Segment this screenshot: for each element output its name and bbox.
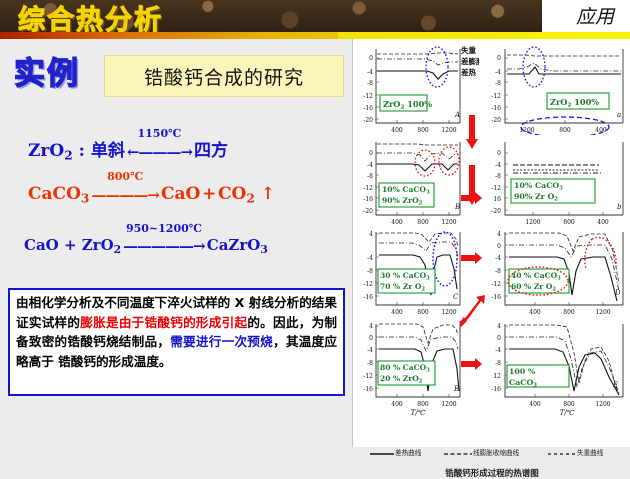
legend-swatch-dashed-long [443,450,473,457]
eq2-condition: 800℃ [107,170,143,183]
slide-root: 综合热分析 应用 实例 锆酸钙合成的研究 ZrO2 : 单斜1150℃←———→… [0,0,630,447]
legend-swatch-solid [369,450,395,457]
chart-panel-B: 0 -4 -8 -12 -16 -20 400 800 1200 [357,139,461,227]
panel-D-composition-2: 60 % Zr O2 [511,282,556,292]
chart-panel-F-svg: 4 0 -4 -8 12 -16 400 800 1200 [479,321,627,417]
ytick: 4 [497,323,501,330]
ytick: -4 [495,162,501,169]
equations-group: ZrO2 : 单斜1150℃←———→四方 CaCO3800℃————→CaO … [0,126,352,286]
legend-item-2: 失重曲线 [547,447,603,457]
chart-panel-b: 0 -4 -8 -12 16 -20 1200 800 400 [479,139,627,227]
ytick: -12 [491,281,501,288]
chart-panel-D: 4 0 -4 -8 -12 -16 400 800 1200 [479,229,627,319]
ytick: -4 [495,69,501,76]
panel-A-label: A [454,111,460,119]
ytick: -4 [495,255,501,262]
ytick: -8 [495,360,501,367]
xtick: 400 [391,127,403,134]
ytick: 12 [493,373,501,380]
ytick: -8 [495,173,501,180]
panel-b-label: b [617,203,622,211]
chart-panel-E: 4 0 -4 -8 -12 -16 400 800 1200 [357,321,461,417]
thermal-analysis-figure: 0 -4 -8 -12 -16 -20 400 800 1200 [352,39,630,447]
ytick: -4 [367,255,373,262]
xtick: 1200 [441,401,456,408]
panel-D-composition-1: 40 % CaCO3 [511,271,561,281]
chart-panel-b-svg: 0 -4 -8 -12 16 -20 1200 800 400 [479,139,627,227]
panel-E-composition-1: 80 % CaCO3 [380,363,430,373]
ytick: -12 [363,185,373,192]
equation-zro2: ZrO2 : 单斜1150℃←———→四方 [28,136,228,162]
red-arrow-diagonal-1 [459,295,487,329]
eq1-right: 四方 [194,141,228,161]
equation-caco3: CaCO3800℃————→CaO + CO2 ↑ [28,184,275,205]
eq1-left: ZrO2 : 单斜 [28,141,125,161]
panel-B-composition-1: 10% CaCO3 [382,185,430,195]
equation-cazro3: CaO + ZrO2950~1200℃—————→CaZrO3 [24,236,268,256]
legend-item-1: 线膨胀收缩曲线 [443,447,519,457]
panel-a-label: a [617,111,621,119]
ytick: -12 [363,281,373,288]
xtick: 1200 [525,219,540,226]
panel-E-xaxis-label: T/℃ [411,409,426,417]
eq3-left: CaO + ZrO2 [24,236,121,254]
ytick: -16 [363,294,373,301]
eq3-arrow: 950~1200℃—————→ [123,237,205,255]
ytick: 0 [497,243,501,250]
chart-panel-B-svg: 0 -4 -8 -12 -16 -20 400 800 1200 [357,139,461,227]
xtick: 800 [417,219,429,226]
panel-F-label: F [612,381,619,389]
ytick: -16 [491,294,501,301]
panel-F-composition-2: CaCO3 [509,378,537,388]
panel-b-composition-2: 90% Zr O2 [514,192,558,202]
xtick: 800 [417,127,429,134]
panel-B-label: B [454,203,460,211]
panel-E-composition-2: 20 % ZrO2 [380,374,423,384]
ytick: -4 [367,69,373,76]
ytick: -20 [363,208,373,215]
eq3-condition: 950~1200℃ [126,222,202,235]
ytick: -8 [495,80,501,87]
chart-panel-E-svg: 4 0 -4 -8 -12 -16 400 800 1200 [357,321,461,417]
eq1-condition: 1150℃ [137,127,181,140]
conclusion-textbox: 由相化学分析及不同温度下淬火试样的 X 射线分析的结果证实试样的膨胀是由于锆酸钙… [8,288,345,396]
ytick: 4 [369,231,373,238]
ytick: -12 [491,185,501,192]
panel-B-composition-2: 90% ZrO2 [382,196,423,206]
legend-label-0: 差热曲线 [395,449,421,457]
eq2-right: CaO + CO2 ↑ [161,184,275,204]
eq3-right: CaZrO3 [207,236,268,254]
xtick: 400 [529,401,541,408]
conclusion-paragraph: 由相化学分析及不同温度下淬火试样的 X 射线分析的结果证实试样的膨胀是由于锆酸钙… [16,293,337,371]
panel-b-composition-1: 10% CaCO3 [514,181,563,191]
panel-F-composition-1: 100 % [509,367,536,376]
xtick: 400 [391,309,403,316]
panel-C-composition-2: 70 % Zr O2 [380,282,425,292]
ytick: -12 [491,93,501,100]
xtick: 800 [563,309,575,316]
ytick: -16 [491,386,501,393]
panel-F-xaxis-label: T/℃ [560,409,575,417]
xtick: 400 [597,219,609,226]
eq1-arrow: 1150℃←———→ [127,142,192,162]
legend-swatch-dashed [547,450,577,457]
xtick: 800 [559,127,571,134]
panel-D-label: D [614,289,621,297]
example-badge: 实例 [14,48,80,93]
page-title: 综合热分析 [18,0,163,32]
ytick: -16 [363,196,373,203]
red-arrow-right-2 [461,191,483,205]
legend-label-1: 线膨胀收缩曲线 [473,449,519,457]
xtick: 400 [391,401,403,408]
xtick: 800 [417,401,429,408]
title-band: 综合热分析 应用 [0,0,630,32]
panel-A-composition: ZrO2 100% [383,99,432,111]
chart-panel-a: 0 -4 -8 -12 -16 -20 1200 800 400 [479,43,627,135]
ytick: -20 [363,117,373,124]
ytick: 4 [369,323,373,330]
ytick: -20 [491,117,501,124]
red-arrow-right-3 [461,357,483,371]
chart-panel-C-svg: 4 -4 -8 -12 -16 400 800 1200 [357,229,461,319]
ytick: -16 [491,105,501,112]
panel-a-composition: ZrO2 100% [550,97,599,109]
ytick: 0 [369,150,373,157]
chart-panel-a-svg: 0 -4 -8 -12 -16 -20 1200 800 400 [479,43,627,135]
figure-caption: 锆酸钙形成过程的热谱图 [353,467,630,479]
red-arrow-right-1 [461,251,483,265]
ytick: 0 [497,335,501,342]
legend-label-2: 失重曲线 [577,449,603,457]
single-arrow-icon: ————→ [91,186,159,204]
ytick: -8 [367,360,373,367]
panel-C-composition-1: 30 % CaCO3 [380,271,430,281]
legend-item-0: 差热曲线 [369,447,421,457]
ytick: -8 [495,268,501,275]
xtick: 800 [563,401,575,408]
eq2-left: CaCO3 [28,184,89,204]
double-arrow-icon: ←———→ [127,143,192,161]
corner-label: 应用 [576,2,614,29]
ytick: -16 [363,105,373,112]
ytick: 16 [493,196,501,203]
ytick: 0 [497,150,501,157]
chart-panel-A: 0 -4 -8 -12 -16 -20 400 800 1200 [357,43,461,135]
xtick: 400 [391,219,403,226]
chart-panel-F: 4 0 -4 -8 12 -16 400 800 1200 [479,321,627,417]
xtick: 800 [417,309,429,316]
xtick: 1200 [595,401,610,408]
panel-E-label: E [453,385,459,393]
ytick: -4 [495,347,501,354]
xtick: 800 [563,219,575,226]
para-part-blue: 需要进行一次预烧 [170,334,273,349]
ytick: 0 [369,335,373,342]
ytick: -8 [367,173,373,180]
ytick: -16 [363,386,373,393]
title-underline-bar-right [338,32,630,39]
xtick: 1200 [595,309,610,316]
para-part-red: 膨胀是由于锆酸钙的形成引起 [80,315,247,330]
eq2-arrow: 800℃————→ [91,185,159,205]
chart-panel-A-svg: 0 -4 -8 -12 -16 -20 400 800 1200 [357,43,461,135]
chart-panel-D-svg: 4 0 -4 -8 -12 -16 400 800 1200 [479,229,627,319]
chart-panel-C: 4 -4 -8 -12 -16 400 800 1200 [357,229,461,319]
ytick: -20 [491,208,501,215]
ytick: -12 [363,93,373,100]
ytick: -12 [363,373,373,380]
xtick: 1200 [441,127,456,134]
ytick: 0 [369,55,373,62]
ytick: -8 [367,268,373,275]
ytick: 4 [497,231,501,238]
xtick: 400 [529,309,541,316]
red-arrow-down-1 [465,115,479,151]
ytick: -8 [367,80,373,87]
ytick: -4 [367,162,373,169]
xtick: 1200 [441,309,456,316]
xtick: 1200 [441,219,456,226]
ytick: -4 [367,347,373,354]
topic-label: 锆酸钙合成的研究 [144,63,304,90]
single-arrow-icon: —————→ [123,237,205,255]
ytick: 0 [497,55,501,62]
topic-box: 锆酸钙合成的研究 [104,55,344,97]
